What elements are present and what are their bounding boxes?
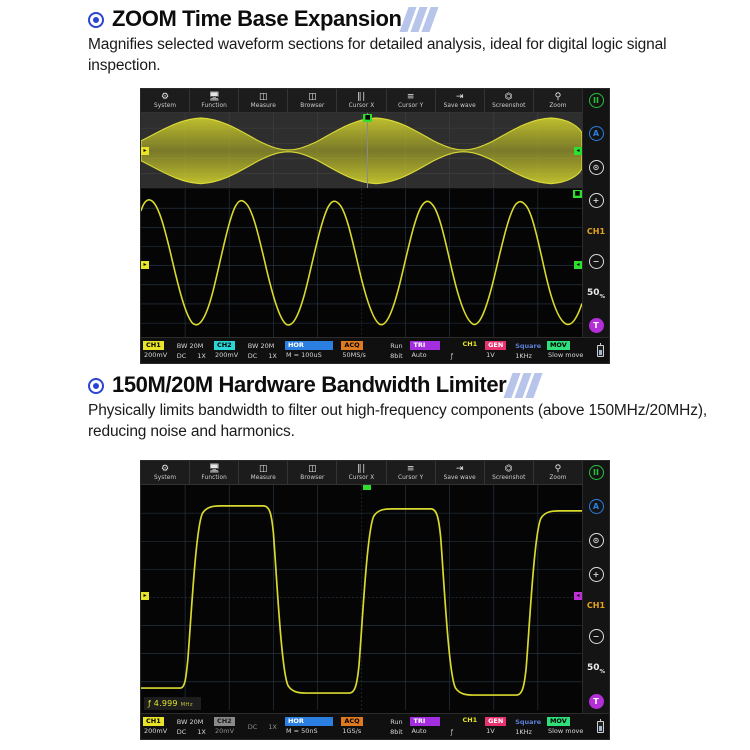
tri-tag: TRI bbox=[410, 717, 440, 726]
toolbar-item-cursor-y[interactable]: ≡ Cursor Y bbox=[387, 89, 436, 112]
status-trigger-slope[interactable]: ƒ bbox=[441, 339, 461, 362]
zoom-out-label: − bbox=[593, 257, 600, 266]
trigger-level-percent[interactable]: 50% bbox=[587, 663, 605, 675]
auto-label: A bbox=[593, 502, 599, 511]
trigger-level-percent[interactable]: 50% bbox=[587, 288, 605, 300]
zoom-region-cursor[interactable] bbox=[367, 113, 368, 188]
mov-mode: Slow move bbox=[547, 350, 594, 360]
ch2-tag: CH2 bbox=[214, 717, 235, 726]
status-acq[interactable]: ACQ 1GS/s bbox=[341, 715, 381, 738]
trigger-position-marker-icon[interactable] bbox=[363, 485, 371, 490]
zoom-marker-top-icon[interactable]: ■ bbox=[363, 114, 372, 122]
toolbar-item-screenshot[interactable]: ⏣ Screenshot bbox=[485, 461, 534, 484]
wave-type: Square bbox=[514, 341, 547, 351]
status-trigger[interactable]: TRI Auto bbox=[410, 715, 441, 738]
toolbar-item-function[interactable]: 🖥 Function bbox=[190, 461, 239, 484]
ch2-coupling: DC bbox=[247, 722, 258, 732]
ch1-tag: CH1 bbox=[143, 341, 164, 350]
arrow-right-icon: ⇥ bbox=[456, 464, 464, 474]
run-state: Run bbox=[389, 341, 402, 351]
feature-description: Magnifies selected waveform sections for… bbox=[0, 34, 750, 76]
wave-freq: 1KHz bbox=[514, 727, 547, 737]
status-ch2-bw: BW 20M DC1X bbox=[247, 339, 285, 362]
gen-tag: GEN bbox=[485, 717, 506, 726]
target-label: ⊙ bbox=[593, 163, 600, 172]
toolbar-label: Screenshot bbox=[492, 102, 525, 110]
overview-envelope-trace bbox=[141, 113, 582, 189]
status-trigger-source[interactable]: CH1 bbox=[461, 715, 485, 738]
target-label: ⊙ bbox=[593, 536, 600, 545]
monitor-icon: 🖥 bbox=[208, 464, 219, 474]
hor-tag: HOR bbox=[285, 341, 333, 350]
toolbar-item-browser[interactable]: ◫ Browser bbox=[288, 89, 337, 112]
trigger-percent-value: 50 bbox=[587, 663, 600, 673]
trigger-percent-unit: % bbox=[600, 669, 606, 675]
gear-icon: ⚙ bbox=[161, 464, 169, 474]
feature-heading: ZOOM Time Base Expansion bbox=[0, 4, 750, 34]
feature-title: ZOOM Time Base Expansion bbox=[112, 6, 402, 32]
gen-amp: 1V bbox=[485, 350, 514, 360]
ch1-coupling: DC bbox=[176, 727, 187, 737]
freq-unit: MHz bbox=[180, 702, 192, 708]
status-battery bbox=[594, 715, 607, 738]
magnifier-icon: ⚲ bbox=[555, 92, 562, 102]
freq-value: 4.999 bbox=[154, 699, 178, 708]
tri-mode: Auto bbox=[410, 726, 441, 736]
ch1-sine-trace bbox=[141, 189, 582, 337]
tri-slope-icon: ƒ bbox=[450, 727, 453, 738]
toolbar-label: Cursor X bbox=[349, 102, 375, 110]
trigger-level-marker-right-icon[interactable]: ◂ bbox=[574, 261, 582, 269]
status-gen[interactable]: GEN 1V bbox=[485, 339, 514, 362]
run-pause-label: II bbox=[593, 468, 599, 477]
database-icon: ◫ bbox=[308, 92, 317, 102]
horizontal-bars-icon: ≡ bbox=[407, 464, 415, 474]
acq-rate: 1GS/s bbox=[341, 726, 381, 736]
status-run[interactable]: Run 8bit bbox=[381, 715, 410, 738]
toolbar-item-zoom[interactable]: ⚲ Zoom bbox=[534, 89, 582, 112]
trigger-percent-value: 50 bbox=[587, 288, 600, 298]
ch1-bw: BW 20M bbox=[176, 341, 214, 351]
zoom-out-label: − bbox=[593, 632, 600, 641]
feature-description: Physically limits bandwidth to filter ou… bbox=[0, 400, 750, 442]
trigger-label: T bbox=[593, 321, 598, 330]
status-trigger[interactable]: TRI Auto bbox=[410, 339, 441, 362]
ch2-volts: 200mV bbox=[214, 350, 247, 360]
ch2-bw: BW 20M bbox=[247, 341, 285, 351]
gen-amp: 1V bbox=[485, 726, 514, 736]
tri-mode: Auto bbox=[410, 350, 441, 360]
trigger-percent-unit: % bbox=[600, 294, 606, 300]
target-icon[interactable]: ⊙ bbox=[589, 160, 604, 175]
vertical-bars-icon: ∥∣ bbox=[357, 464, 366, 474]
tri-source: CH1 bbox=[461, 715, 485, 725]
status-battery bbox=[594, 339, 607, 362]
feature-heading: 150M/20M Hardware Bandwidth Limiter bbox=[0, 370, 750, 400]
status-trigger-source[interactable]: CH1 bbox=[461, 339, 485, 362]
status-hor[interactable]: HOR M = 50nS bbox=[285, 715, 341, 738]
acq-rate: 50MS/s bbox=[341, 350, 381, 360]
auto-button[interactable]: A bbox=[589, 126, 604, 141]
toolbar-item-screenshot[interactable]: ⏣ Screenshot bbox=[485, 89, 534, 112]
trigger-label: T bbox=[593, 697, 598, 706]
toolbar-label: Screenshot bbox=[492, 474, 525, 482]
run-pause-label: II bbox=[593, 96, 599, 105]
mov-mode: Slow move bbox=[547, 726, 594, 736]
run-state: Run bbox=[389, 717, 402, 727]
scope-toolbar[interactable]: ⚙ System 🖥 Function ◫ Measure ◫ Browser bbox=[141, 89, 582, 113]
overview-waveform-pane[interactable]: ■ ▸ ◂ bbox=[141, 113, 582, 189]
status-gen[interactable]: GEN 1V bbox=[485, 715, 514, 738]
toolbar-item-system[interactable]: ⚙ System bbox=[141, 89, 190, 112]
hor-timebase: M = 50nS bbox=[285, 726, 341, 736]
ch1-tag: CH1 bbox=[143, 717, 164, 726]
ch1-ground-marker-left-icon[interactable]: ▸ bbox=[141, 147, 149, 155]
toolbar-label: Cursor Y bbox=[398, 474, 423, 482]
zoom-waveform-pane[interactable]: ▸ ◂ ■ bbox=[141, 189, 582, 337]
toolbar-label: Function bbox=[201, 102, 226, 110]
feature-block-zoom: ZOOM Time Base Expansion Magnifies selec… bbox=[0, 4, 750, 76]
zoom-out-button[interactable]: − bbox=[589, 629, 604, 644]
status-ch1-bw: BW 20M DC1X bbox=[176, 339, 214, 362]
run-bits: 8bit bbox=[389, 727, 403, 737]
toolbar-label: Save wave bbox=[444, 102, 476, 110]
toolbar-label: System bbox=[154, 474, 176, 482]
status-wave[interactable]: Square 1KHz bbox=[514, 339, 547, 362]
trigger-level-marker-right-icon[interactable]: ◂ bbox=[574, 592, 582, 600]
toolbar-label: Zoom bbox=[549, 474, 566, 482]
status-run[interactable]: Run 8bit bbox=[381, 339, 410, 362]
toolbar-item-system[interactable]: ⚙ System bbox=[141, 461, 190, 484]
toolbar-item-zoom[interactable]: ⚲ Zoom bbox=[534, 461, 582, 484]
toolbar-label: Browser bbox=[300, 102, 324, 110]
tri-source: CH1 bbox=[461, 339, 485, 349]
feature-block-bandwidth: 150M/20M Hardware Bandwidth Limiter Phys… bbox=[0, 370, 750, 442]
sidebar-channel-label[interactable]: CH1 bbox=[587, 601, 605, 610]
status-ch1[interactable]: CH1 200mV bbox=[143, 715, 176, 738]
toolbar-item-save-wave[interactable]: ⇥ Save wave bbox=[436, 461, 485, 484]
trigger-position-marker-icon[interactable]: ■ bbox=[573, 190, 582, 198]
acq-tag: ACQ bbox=[341, 717, 362, 726]
tri-slope-icon: ƒ bbox=[450, 351, 453, 362]
status-ch1-bw: BW 20M DC1X bbox=[176, 715, 214, 738]
gear-icon: ⚙ bbox=[161, 92, 169, 102]
ruler-icon: ◫ bbox=[259, 464, 268, 474]
hor-timebase: M = 100uS bbox=[285, 350, 341, 360]
toolbar-label: Browser bbox=[300, 474, 324, 482]
bullet-icon bbox=[88, 12, 104, 28]
oscilloscope-screen-zoom[interactable]: ⚙ System 🖥 Function ◫ Measure ◫ Browser bbox=[140, 88, 610, 364]
toolbar-item-cursor-x[interactable]: ∥∣ Cursor X bbox=[337, 461, 386, 484]
toolbar-label: Function bbox=[201, 474, 226, 482]
status-wave[interactable]: Square 1KHz bbox=[514, 715, 547, 738]
stripes-decoration bbox=[404, 6, 434, 32]
scope-status-bar[interactable]: CH1 200mV BW 20M DC1X CH2 200mV BW 20M D… bbox=[141, 337, 609, 363]
toolbar-label: Zoom bbox=[549, 102, 566, 110]
stripes-decoration bbox=[508, 372, 538, 398]
toolbar-item-cursor-x[interactable]: ∥∣ Cursor X bbox=[337, 89, 386, 112]
scope-right-sidebar[interactable]: II A ⊙ + CH1 − 50% T bbox=[582, 89, 609, 337]
ch2-volts: 20mV bbox=[214, 726, 247, 736]
vertical-bars-icon: ∥∣ bbox=[357, 92, 366, 102]
trigger-button[interactable]: T bbox=[589, 318, 604, 333]
wave-freq: 1KHz bbox=[514, 351, 547, 361]
arrow-right-icon: ⇥ bbox=[456, 92, 464, 102]
run-pause-button[interactable]: II bbox=[589, 93, 604, 108]
toolbar-label: Cursor Y bbox=[398, 102, 423, 110]
wave-type: Square bbox=[514, 717, 547, 727]
status-mov[interactable]: MOV Slow move bbox=[547, 339, 594, 362]
status-ch2[interactable]: CH2 200mV bbox=[214, 339, 247, 362]
toolbar-item-browser[interactable]: ◫ Browser bbox=[288, 461, 337, 484]
ch1-ground-marker-left-icon[interactable]: ▸ bbox=[141, 592, 149, 600]
status-ch2[interactable]: CH2 20mV bbox=[214, 715, 247, 738]
mov-tag: MOV bbox=[547, 341, 570, 350]
trigger-button[interactable]: T bbox=[589, 694, 604, 709]
ch1-ground-marker-left-icon[interactable]: ▸ bbox=[141, 261, 149, 269]
status-trigger-slope[interactable]: ƒ bbox=[441, 715, 461, 738]
status-acq[interactable]: ACQ 50MS/s bbox=[341, 339, 381, 362]
feature-page: ZOOM Time Base Expansion Magnifies selec… bbox=[0, 0, 750, 750]
scope-right-sidebar[interactable]: II A ⊙ + CH1 − 50% T bbox=[582, 461, 609, 713]
hor-tag: HOR bbox=[285, 717, 333, 726]
freq-prefix: ƒ bbox=[148, 699, 151, 708]
ch2-coupling: DC bbox=[247, 351, 258, 361]
crop-icon: ⏣ bbox=[505, 464, 513, 474]
ch2-probe: 1X bbox=[267, 722, 277, 732]
toolbar-label: Save wave bbox=[444, 474, 476, 482]
run-bits: 8bit bbox=[389, 351, 403, 361]
crop-icon: ⏣ bbox=[505, 92, 513, 102]
oscilloscope-screen-bandwidth[interactable]: ⚙ System 🖥 Function ◫ Measure ◫ Browser bbox=[140, 460, 610, 740]
toolbar-item-measure[interactable]: ◫ Measure bbox=[239, 461, 288, 484]
ruler-icon: ◫ bbox=[259, 92, 268, 102]
toolbar-label: Measure bbox=[251, 474, 276, 482]
ch1-coupling: DC bbox=[176, 351, 187, 361]
ch1-probe: 1X bbox=[196, 351, 206, 361]
zoom-in-button[interactable]: + bbox=[589, 567, 604, 582]
auto-label: A bbox=[593, 129, 599, 138]
status-mov[interactable]: MOV Slow move bbox=[547, 715, 594, 738]
database-icon: ◫ bbox=[308, 464, 317, 474]
status-ch2-bw: DC1X bbox=[247, 715, 285, 738]
auto-button[interactable]: A bbox=[589, 499, 604, 514]
frequency-readout: ƒ 4.999 MHz bbox=[144, 697, 201, 710]
magnifier-icon: ⚲ bbox=[555, 464, 562, 474]
run-pause-button[interactable]: II bbox=[589, 465, 604, 480]
battery-icon bbox=[597, 345, 604, 357]
target-icon[interactable]: ⊙ bbox=[589, 533, 604, 548]
toolbar-item-function[interactable]: 🖥 Function bbox=[190, 89, 239, 112]
zoom-in-label: + bbox=[593, 196, 600, 205]
feature-title: 150M/20M Hardware Bandwidth Limiter bbox=[112, 372, 506, 398]
battery-icon bbox=[597, 721, 604, 733]
toolbar-label: Measure bbox=[251, 102, 276, 110]
ch1-probe: 1X bbox=[196, 727, 206, 737]
toolbar-label: Cursor X bbox=[349, 474, 375, 482]
bullet-icon bbox=[88, 378, 104, 394]
ch1-bw: BW 20M bbox=[176, 717, 214, 727]
gen-tag: GEN bbox=[485, 341, 506, 350]
sidebar-channel-label[interactable]: CH1 bbox=[587, 227, 605, 236]
waveform-pane[interactable]: ▸ ◂ ƒ 4.999 MHz bbox=[141, 485, 582, 713]
toolbar-item-measure[interactable]: ◫ Measure bbox=[239, 89, 288, 112]
ch2-probe: 1X bbox=[267, 351, 277, 361]
toolbar-item-save-wave[interactable]: ⇥ Save wave bbox=[436, 89, 485, 112]
ch1-volts: 200mV bbox=[143, 350, 176, 360]
ch1-volts: 200mV bbox=[143, 726, 176, 736]
toolbar-item-cursor-y[interactable]: ≡ Cursor Y bbox=[387, 461, 436, 484]
status-ch1[interactable]: CH1 200mV bbox=[143, 339, 176, 362]
zoom-in-label: + bbox=[593, 570, 600, 579]
horizontal-bars-icon: ≡ bbox=[407, 92, 415, 102]
monitor-icon: 🖥 bbox=[208, 92, 219, 102]
status-hor[interactable]: HOR M = 100uS bbox=[285, 339, 341, 362]
ch2-tag: CH2 bbox=[214, 341, 235, 350]
zoom-in-button[interactable]: + bbox=[589, 193, 604, 208]
ch1-square-trace bbox=[141, 485, 582, 710]
trigger-marker-right-icon[interactable]: ◂ bbox=[574, 147, 582, 155]
scope-toolbar[interactable]: ⚙ System 🖥 Function ◫ Measure ◫ Browser bbox=[141, 461, 582, 485]
acq-tag: ACQ bbox=[341, 341, 362, 350]
mov-tag: MOV bbox=[547, 717, 570, 726]
tri-tag: TRI bbox=[410, 341, 440, 350]
zoom-out-button[interactable]: − bbox=[589, 254, 604, 269]
toolbar-label: System bbox=[154, 102, 176, 110]
scope-status-bar[interactable]: CH1 200mV BW 20M DC1X CH2 20mV DC1X HOR … bbox=[141, 713, 609, 739]
